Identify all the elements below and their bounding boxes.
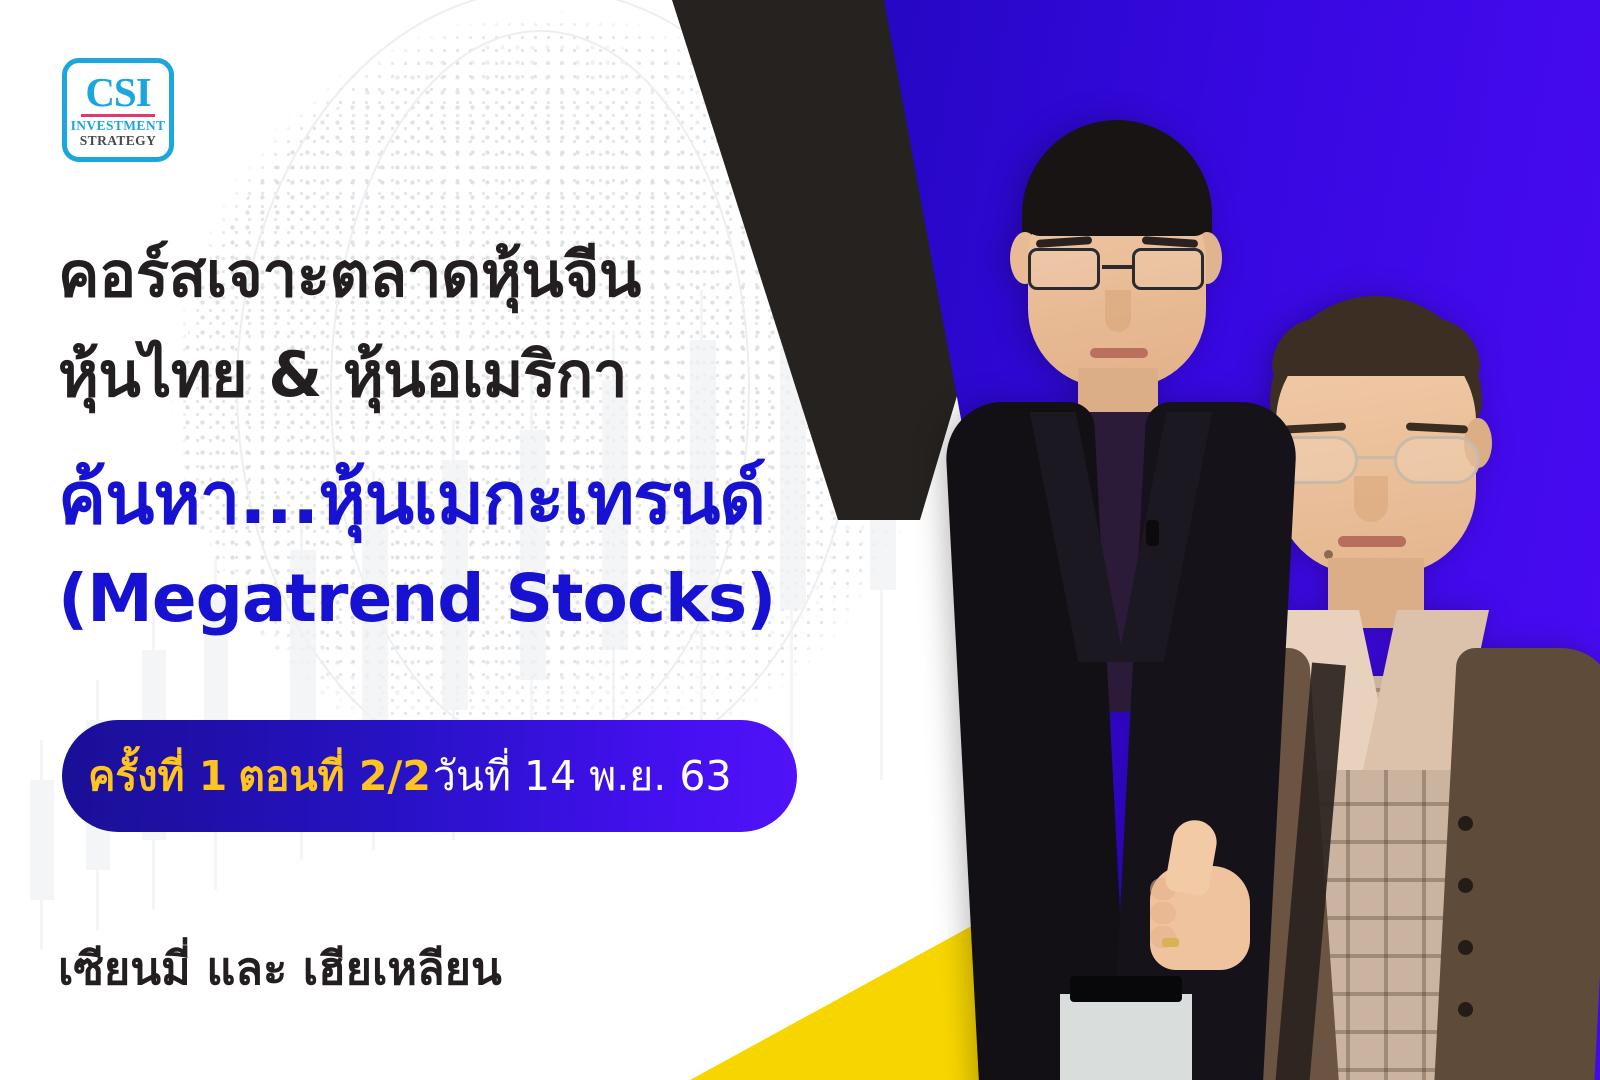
lens-right	[1394, 436, 1480, 484]
course-title-line-1: คอร์สเจาะตลาดหุ้นจีน	[58, 244, 641, 306]
lapel-microphone-icon	[1146, 520, 1159, 546]
hair-fringe	[1272, 318, 1480, 376]
mouth	[1338, 536, 1406, 547]
course-subtitle-thai: ค้นหา...หุ้นเมกะเทรนด์	[58, 462, 765, 534]
course-promo-banner: CSI INVESTMENT STRATEGY คอร์สเจาะตลาดหุ้…	[0, 0, 1600, 1080]
badge-episode-number: ตอนที่ 2/2	[238, 756, 431, 797]
badge-session-number: ครั้งที่ 1	[88, 756, 227, 797]
person-black-suit	[950, 120, 1280, 1080]
text-content: คอร์สเจาะตลาดหุ้นจีน หุ้นไทย & หุ้นอเมริ…	[0, 0, 960, 1080]
eyeglasses-icon	[1026, 248, 1208, 292]
glasses-bridge	[1102, 265, 1134, 269]
trousers	[1060, 994, 1192, 1080]
lens-right	[1132, 248, 1204, 290]
badge-date: วันที่ 14 พ.ย. 63	[433, 756, 732, 797]
glasses-bridge	[1358, 456, 1394, 459]
cardigan-button	[1458, 816, 1473, 831]
hair-fringe	[1024, 164, 1210, 236]
session-badge: ครั้งที่ 1 ตอนที่ 2/2 วันที่ 14 พ.ย. 63	[62, 720, 797, 832]
course-subtitle-english: (Megatrend Stocks)	[58, 566, 775, 632]
presenters-photo	[930, 0, 1600, 1080]
cardigan-button	[1458, 878, 1473, 893]
thumbs-up-hand-icon	[1146, 820, 1254, 970]
nose	[1354, 476, 1388, 522]
belt	[1070, 976, 1182, 1002]
knuckle	[1150, 902, 1176, 924]
mouth	[1090, 348, 1148, 358]
cardigan-button	[1458, 940, 1473, 955]
nose	[1105, 290, 1131, 332]
cardigan-button	[1458, 1002, 1473, 1017]
lens-left	[1028, 248, 1100, 290]
wedding-ring	[1162, 938, 1179, 947]
course-title-line-2: หุ้นไทย & หุ้นอเมริกา	[58, 344, 627, 406]
presenters-names: เซียนมี่ และ เฮียเหลียน	[58, 932, 502, 1004]
